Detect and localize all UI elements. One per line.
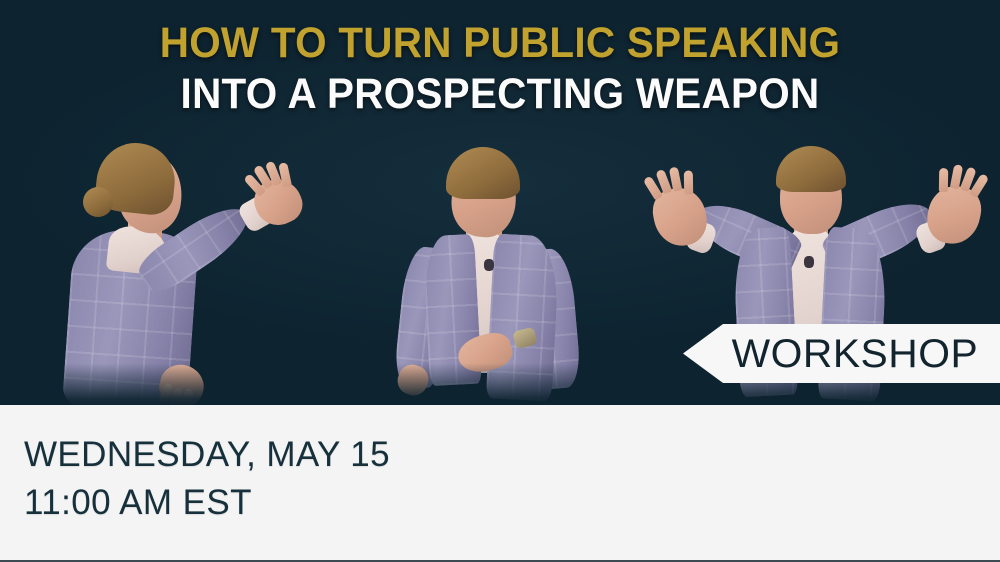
headline: HOW TO TURN PUBLIC SPEAKING INTO A PROSP…: [0, 18, 1000, 120]
finger: [181, 388, 194, 405]
speaker-figure-left: [42, 143, 322, 405]
lapel-microphone-icon: [484, 259, 494, 271]
headline-line-2: INTO A PROSPECTING WEAPON: [30, 69, 970, 120]
finger: [278, 162, 292, 187]
event-time: 11:00 AM EST: [24, 479, 390, 527]
speaker-middle-right-lapel: [486, 233, 561, 401]
headline-line-1: HOW TO TURN PUBLIC SPEAKING: [30, 18, 970, 69]
event-info-bar: WEDNESDAY, MAY 15 11:00 AM EST: [0, 405, 1000, 562]
finger: [684, 170, 693, 194]
speaker-left-hair-bun: [83, 187, 113, 217]
event-date: WEDNESDAY, MAY 15: [24, 431, 390, 479]
lapel-microphone-icon: [804, 256, 814, 268]
workshop-ribbon-label: WORKSHOP: [732, 334, 979, 374]
webinar-promo-poster: HOW TO TURN PUBLIC SPEAKING INTO A PROSP…: [0, 0, 1000, 562]
speaker-right-hair: [776, 146, 846, 192]
workshop-ribbon-badge: WORKSHOP: [683, 324, 1000, 383]
finger: [939, 168, 948, 192]
speaker-figure-middle: [398, 147, 618, 405]
event-details: WEDNESDAY, MAY 15 11:00 AM EST: [24, 431, 390, 527]
speaker-middle-hair: [446, 147, 520, 199]
